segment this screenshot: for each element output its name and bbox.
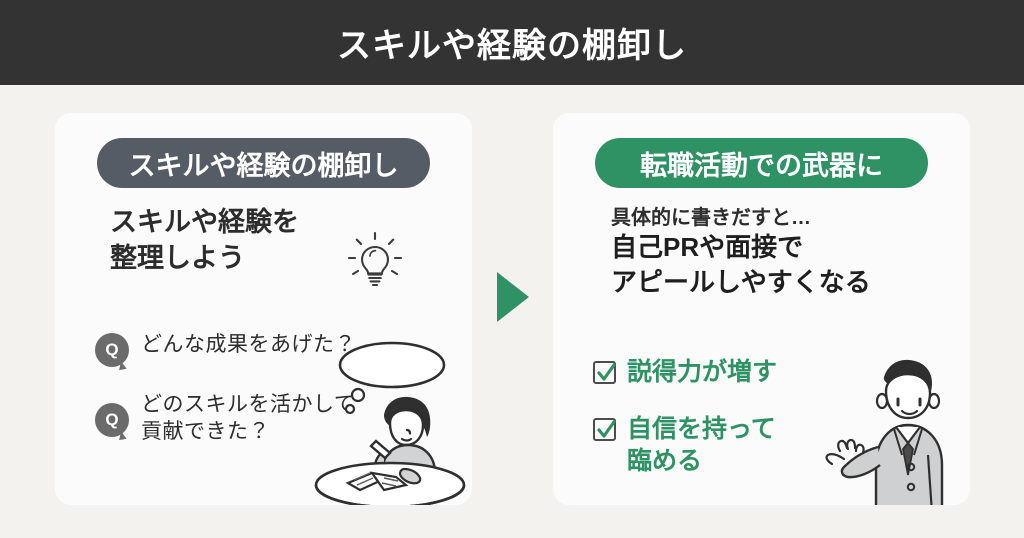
left-card-heading: スキルや経験を 整理しよう: [110, 205, 299, 276]
benefit-line-2: 臨める: [627, 445, 776, 478]
right-heading-line-2: アピールしやすくなる: [611, 265, 871, 300]
question-badge-icon: Q: [95, 333, 129, 367]
lightbulb-icon: [342, 231, 408, 293]
left-card-pill-label: スキルや経験の棚卸し: [129, 144, 399, 183]
benefit-text: 自信を持って 臨める: [627, 413, 776, 478]
right-card-pill-label: 転職活動での武器に: [640, 144, 883, 183]
right-heading-line-1: 自己PRや面接で: [611, 230, 871, 265]
question-badge-icon: Q: [95, 403, 129, 437]
arrow-right-icon: [497, 272, 529, 322]
checkbox-checked-icon: [593, 418, 616, 441]
benefit-text: 説得力が増す: [627, 356, 777, 389]
checkbox-checked-icon: [593, 361, 616, 384]
right-card-subtext: 具体的に書きだすと…: [611, 201, 811, 230]
left-card: スキルや経験の棚卸し スキルや経験を 整理しよう Q: [55, 113, 472, 505]
right-card: 転職活動での武器に 具体的に書きだすと… 自己PRや面接で アピールしやすくなる…: [553, 113, 970, 505]
right-card-pill: 転職活動での武器に: [595, 138, 928, 188]
infographic-page: スキルや経験の棚卸し スキルや経験の棚卸し スキルや経験を 整理しよう: [0, 0, 1024, 538]
businessman-presenting-illustration: [816, 347, 970, 505]
benefit-line-1: 説得力が増す: [627, 356, 777, 389]
left-heading-line-2: 整理しよう: [110, 241, 299, 277]
right-card-heading: 自己PRや面接で アピールしやすくなる: [611, 230, 871, 299]
question-badge-label: Q: [105, 410, 118, 430]
page-title: スキルや経験の棚卸し: [337, 18, 687, 67]
left-card-pill: スキルや経験の棚卸し: [97, 138, 430, 188]
benefit-line-1: 自信を持って: [627, 413, 776, 446]
question-badge-label: Q: [105, 340, 118, 360]
person-thinking-at-desk-illustration: [306, 339, 472, 505]
header-bar: スキルや経験の棚卸し: [0, 0, 1024, 85]
left-heading-line-1: スキルや経験を: [110, 205, 299, 241]
